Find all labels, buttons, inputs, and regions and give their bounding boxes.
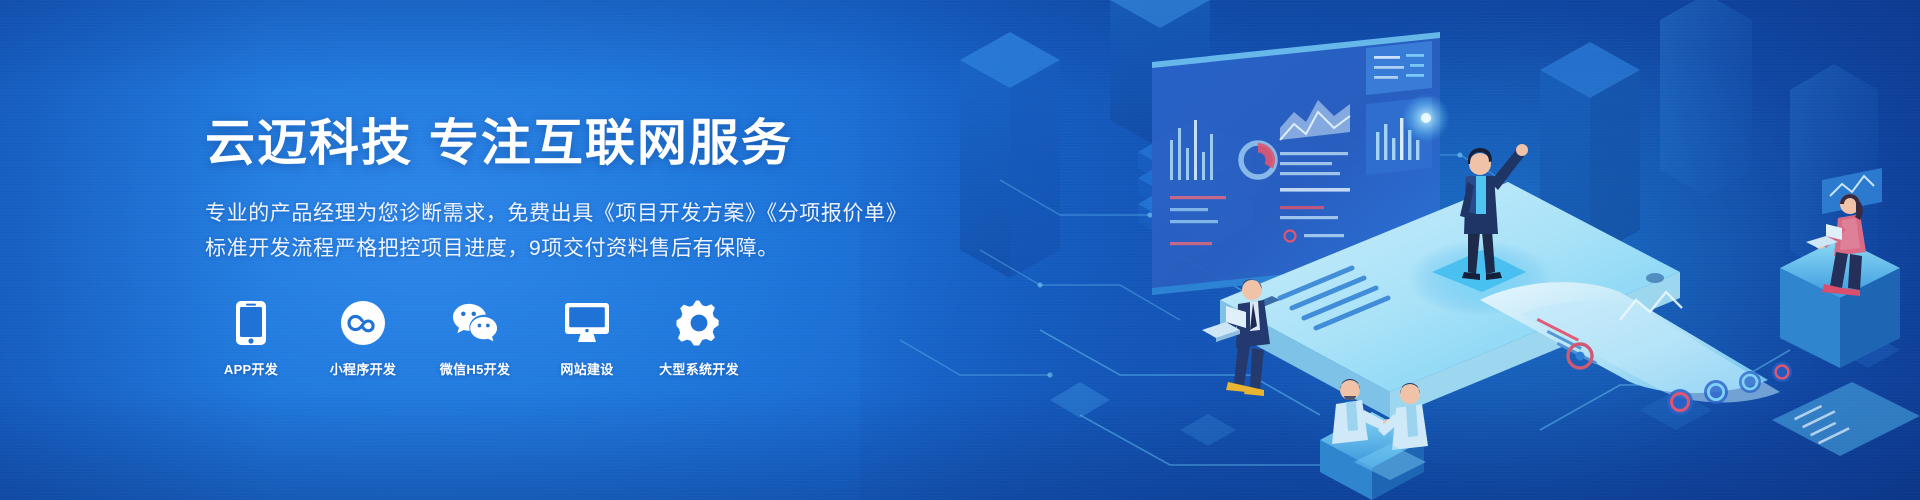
- banner-content: 云迈科技 专注互联网服务 专业的产品经理为您诊断需求，免费出具《项目开发方案》《…: [205, 0, 965, 500]
- service-list: APP开发 小程序开发: [205, 300, 965, 378]
- banner-subtitle: 专业的产品经理为您诊断需求，免费出具《项目开发方案》《分项报价单》 标准开发流程…: [205, 197, 965, 265]
- monitor-icon: [564, 300, 610, 346]
- subtitle-line-2: 标准开发流程严格把控项目进度，9项交付资料售后有保障。: [205, 232, 965, 266]
- service-label: 微信H5开发: [440, 359, 510, 378]
- service-label: 小程序开发: [330, 359, 397, 378]
- mobile-phone-icon: [228, 300, 274, 346]
- service-item-website[interactable]: 网站建设: [541, 300, 633, 378]
- service-item-wechat-h5[interactable]: 微信H5开发: [429, 300, 521, 378]
- service-item-miniprogram[interactable]: 小程序开发: [317, 300, 409, 378]
- subtitle-line-1: 专业的产品经理为您诊断需求，免费出具《项目开发方案》《分项报价单》: [205, 197, 965, 231]
- wechat-icon: [452, 300, 498, 346]
- service-label: 网站建设: [560, 359, 613, 378]
- service-item-large-system[interactable]: 大型系统开发: [653, 300, 745, 378]
- page-title: 云迈科技 专注互联网服务: [205, 116, 965, 171]
- gear-icon: [676, 300, 722, 346]
- hero-banner: 云迈科技 专注互联网服务 专业的产品经理为您诊断需求，免费出具《项目开发方案》《…: [0, 0, 1920, 500]
- mini-program-icon: [340, 300, 386, 346]
- service-label: 大型系统开发: [659, 359, 739, 378]
- service-item-app[interactable]: APP开发: [205, 300, 297, 378]
- service-label: APP开发: [224, 359, 278, 378]
